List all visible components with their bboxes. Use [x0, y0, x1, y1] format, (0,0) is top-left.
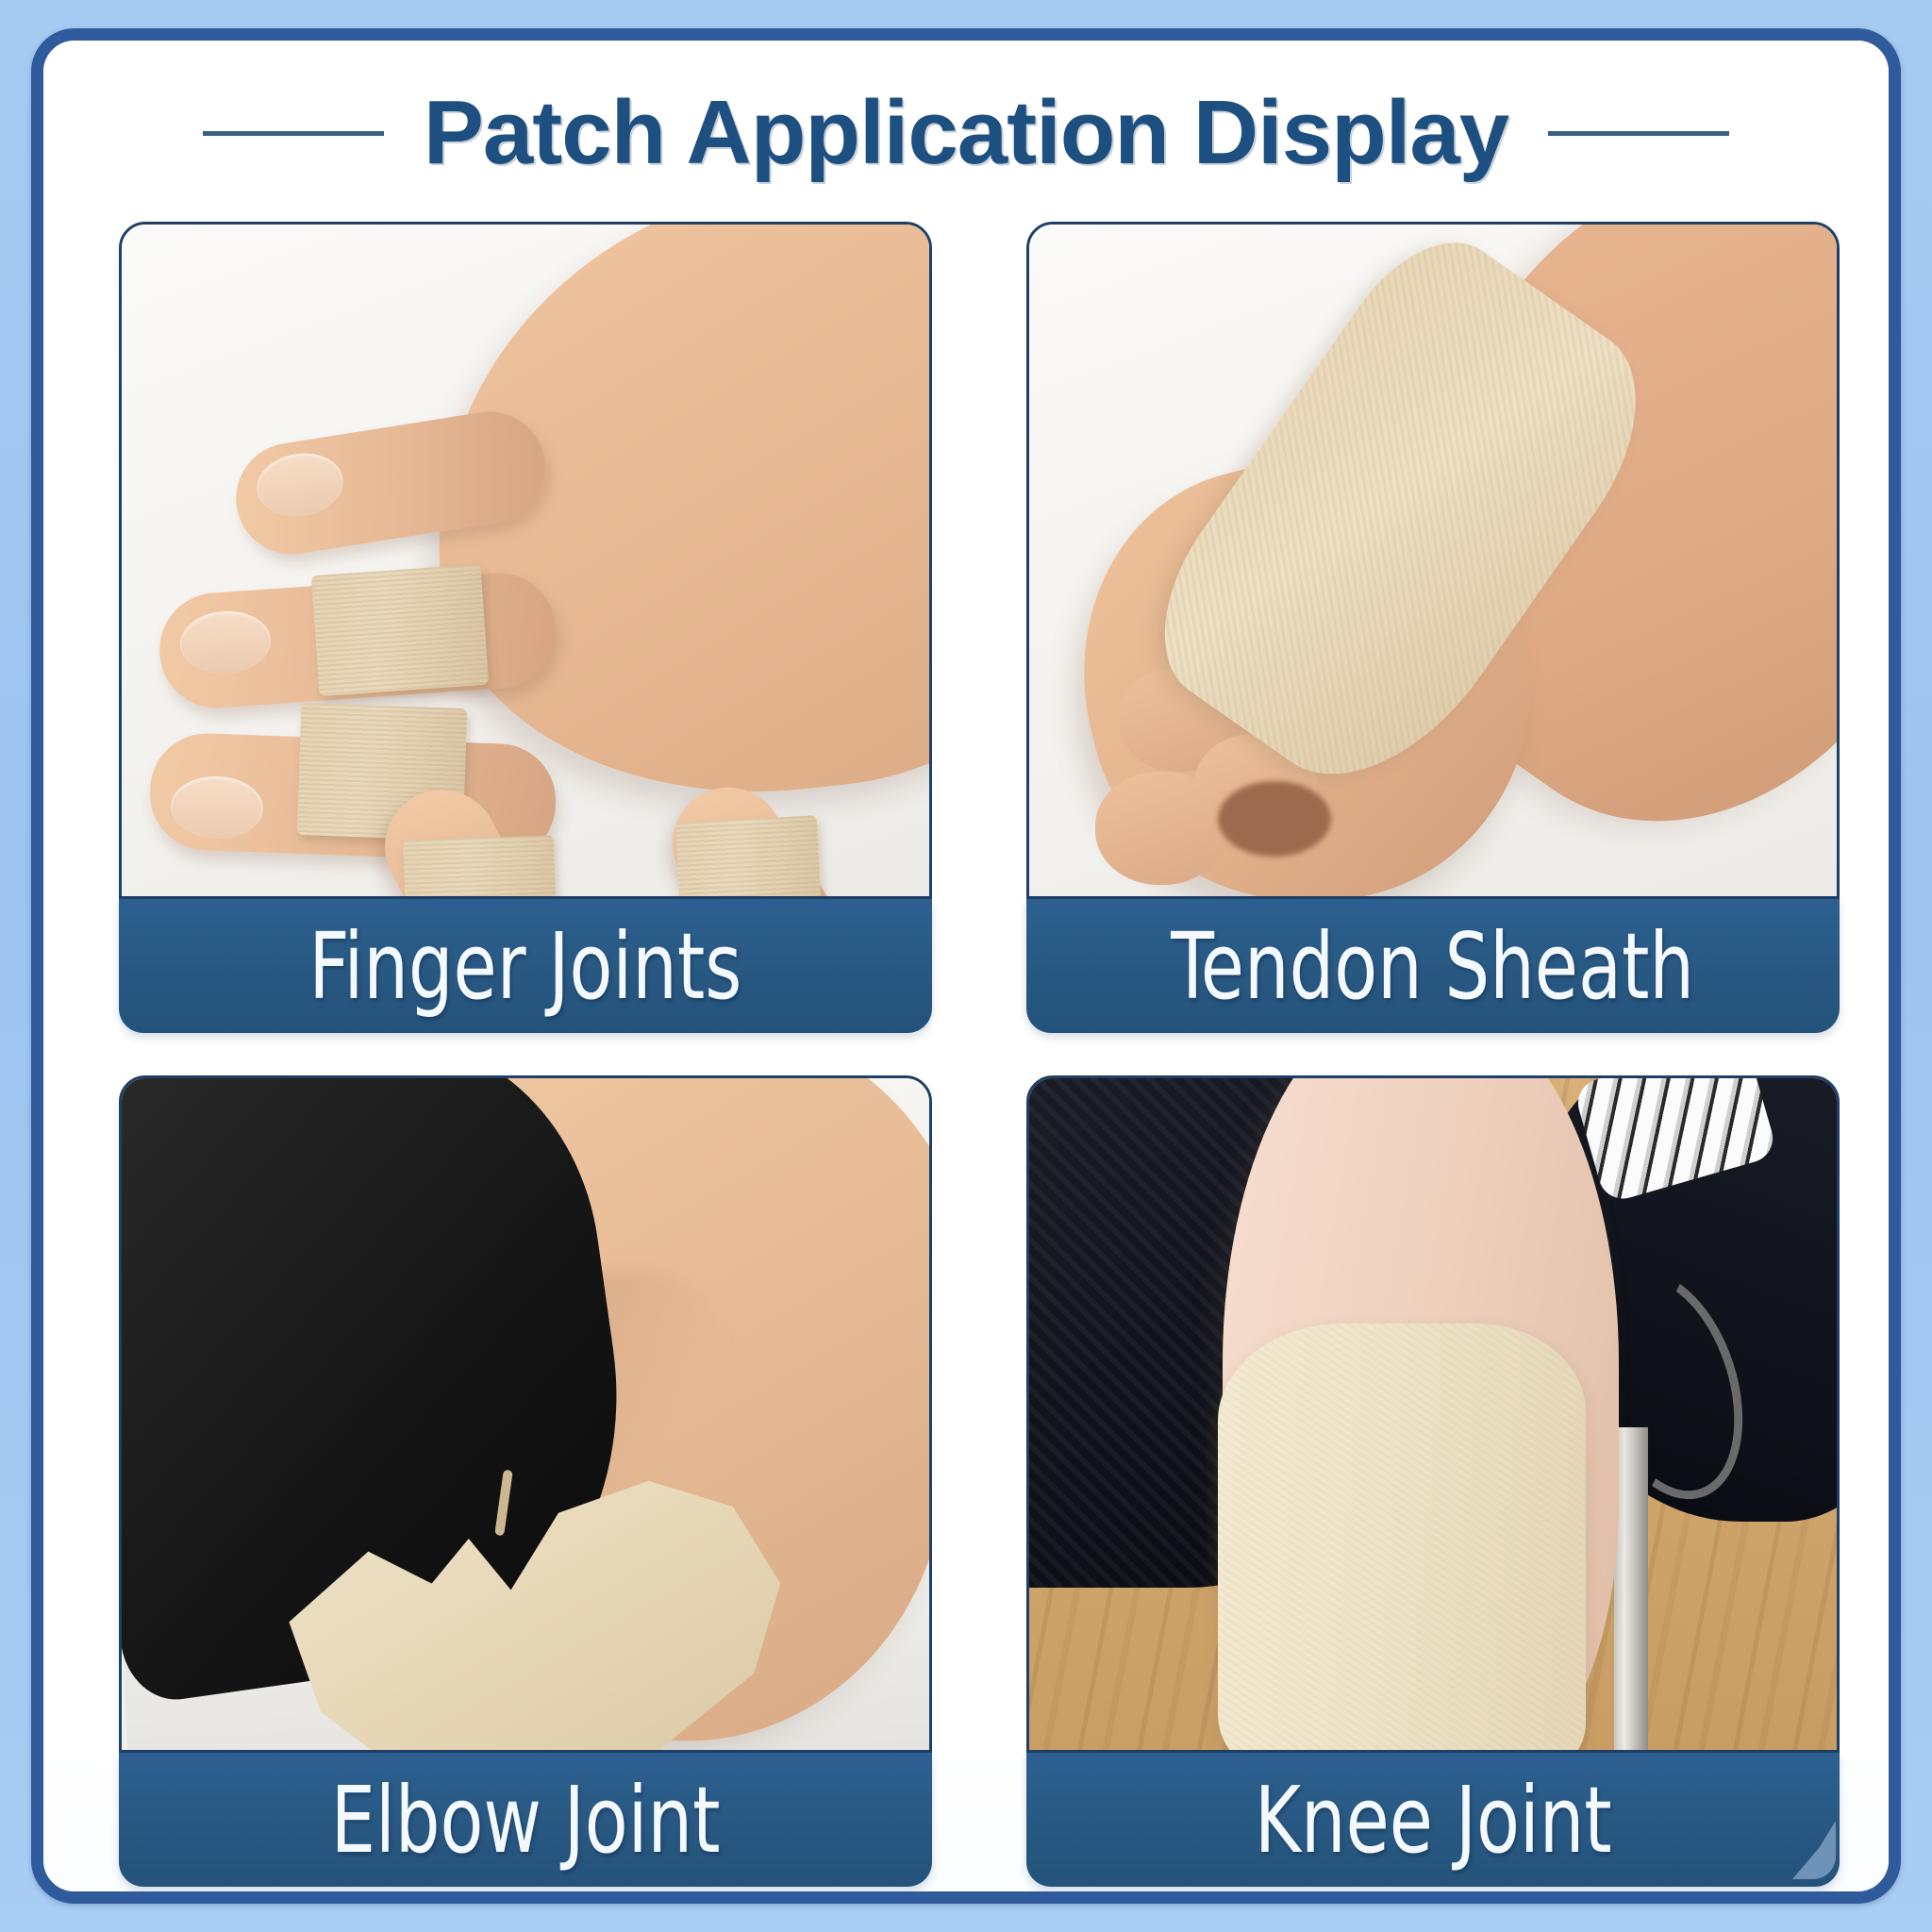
photo-elbow-joint — [119, 1075, 932, 1753]
patch-band-thumb — [675, 815, 823, 899]
card-grid: Finger Joints Tendon Sheath — [119, 222, 1857, 1854]
patch-band-little — [403, 835, 558, 899]
caption-label: Tendon Sheath — [1172, 921, 1695, 1012]
finger-shadow — [1218, 781, 1331, 857]
card-tendon-sheath[interactable]: Tendon Sheath — [1026, 222, 1840, 1033]
photo-finger-joints — [119, 222, 932, 899]
outer-frame: Patch Application Display — [31, 28, 1901, 1904]
card-elbow-joint[interactable]: Elbow Joint — [119, 1075, 932, 1887]
title-rule-left — [203, 131, 384, 136]
patch-band-middle — [311, 564, 489, 696]
page-title: Patch Application Display — [424, 88, 1508, 178]
photo-knee-joint — [1026, 1075, 1840, 1753]
caption-label: Elbow Joint — [331, 1774, 721, 1866]
photo-tendon-sheath — [1026, 222, 1840, 899]
content-sheet: Patch Application Display — [43, 41, 1889, 1891]
caption-knee-joint: Knee Joint — [1026, 1753, 1840, 1887]
header: Patch Application Display — [43, 67, 1889, 199]
caption-label: Knee Joint — [1255, 1774, 1612, 1866]
title-rule-right — [1548, 131, 1729, 136]
caption-finger-joints: Finger Joints — [119, 899, 932, 1033]
patch-knee — [1218, 1324, 1586, 1753]
card-finger-joints[interactable]: Finger Joints — [119, 222, 932, 1033]
corner-fold-artifact — [1792, 1821, 1836, 1879]
caption-label: Finger Joints — [308, 921, 741, 1012]
knuckle-3 — [1095, 772, 1227, 885]
caption-tendon-sheath: Tendon Sheath — [1026, 899, 1840, 1033]
card-knee-joint[interactable]: Knee Joint — [1026, 1075, 1840, 1887]
caption-elbow-joint: Elbow Joint — [119, 1753, 932, 1887]
